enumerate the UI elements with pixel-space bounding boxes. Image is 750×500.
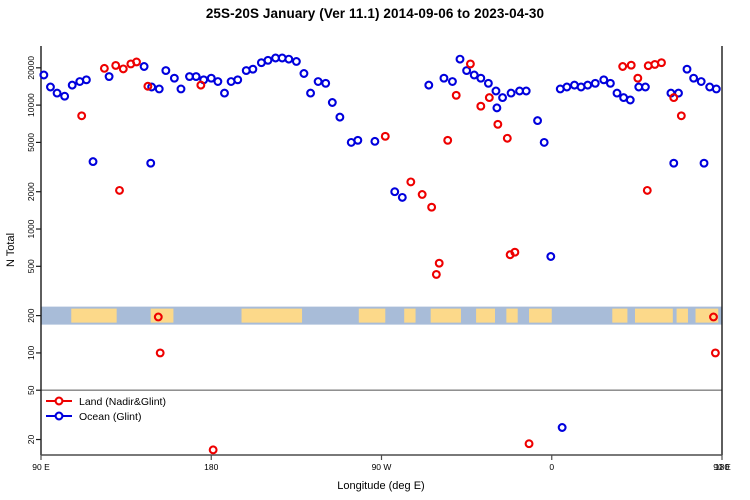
data-point [526, 440, 533, 447]
y-tick-label: 20 [26, 435, 36, 445]
y-tick-label: 5000 [26, 133, 36, 152]
data-point [371, 138, 378, 145]
data-point [101, 65, 108, 72]
data-point [285, 56, 292, 63]
data-point [141, 63, 148, 70]
data-point [69, 82, 76, 89]
x-axis-ticks: 90 E18090 W090 E180 [32, 455, 731, 472]
data-point [315, 78, 322, 85]
data-point [493, 88, 500, 95]
data-point [407, 179, 414, 186]
y-tick-label: 500 [26, 259, 36, 273]
data-point [336, 114, 343, 121]
data-point [171, 75, 178, 82]
data-point [670, 160, 677, 167]
data-point [511, 249, 518, 256]
data-point [193, 73, 200, 80]
plot-frame [41, 46, 722, 455]
data-point [120, 66, 127, 73]
data-point [627, 97, 634, 104]
data-point [494, 121, 501, 128]
y-tick-label: 200 [26, 308, 36, 322]
data-point [221, 90, 228, 97]
legend-label: Land (Nadir&Glint) [79, 396, 166, 408]
x-axis-label: Longitude (deg E) [337, 480, 424, 492]
data-point [499, 94, 506, 101]
data-point [162, 67, 169, 74]
y-axis-ticks: 20501002005001000200050001000020000 [26, 56, 41, 445]
data-point [504, 135, 511, 142]
data-point [147, 160, 154, 167]
data-point [644, 187, 651, 194]
data-point [265, 57, 272, 64]
data-point [534, 117, 541, 124]
data-point [477, 103, 484, 110]
data-point [559, 424, 566, 431]
data-point [614, 90, 621, 97]
data-point [433, 271, 440, 278]
data-point [428, 204, 435, 211]
data-point [463, 67, 470, 74]
data-point [642, 84, 649, 91]
data-point [112, 62, 119, 69]
data-point [457, 56, 464, 63]
series-land-nadir-glint [78, 59, 719, 454]
data-point [178, 86, 185, 93]
data-point [584, 82, 591, 89]
series-ocean-glint [40, 55, 719, 431]
data-point [670, 94, 677, 101]
data-point [210, 446, 217, 453]
data-point [90, 158, 97, 165]
y-tick-label: 50 [26, 385, 36, 395]
data-point [293, 58, 300, 65]
data-point [382, 133, 389, 140]
data-point [523, 88, 530, 95]
x-tick-label-end: 180 [715, 462, 729, 472]
legend: Land (Nadir&Glint)Ocean (Glint) [44, 390, 194, 426]
data-point [467, 61, 474, 68]
data-point [449, 78, 456, 85]
data-point [508, 90, 515, 97]
data-point [40, 72, 47, 79]
data-point [329, 99, 336, 106]
data-point [628, 62, 635, 69]
data-point [713, 86, 720, 93]
y-tick-label: 20000 [26, 56, 36, 80]
data-point [157, 350, 164, 357]
data-point [607, 80, 614, 87]
x-tick-label: 180 [204, 462, 218, 472]
data-point [658, 59, 665, 66]
y-tick-label: 100 [26, 346, 36, 360]
chart-root: 25S-20S January (Ver 11.1) 2014-09-06 to… [0, 0, 750, 500]
data-point [83, 76, 90, 83]
data-point [684, 66, 691, 73]
data-point [197, 82, 204, 89]
data-point [214, 78, 221, 85]
land-ocean-band [41, 307, 722, 325]
data-point [156, 86, 163, 93]
y-axis-label: N Total [5, 233, 17, 267]
data-point [354, 137, 361, 144]
data-point [78, 112, 85, 119]
y-tick-label: 1000 [26, 219, 36, 238]
data-point [477, 75, 484, 82]
data-point [116, 187, 123, 194]
data-point [436, 260, 443, 267]
data-point [634, 75, 641, 82]
legend-marker [56, 413, 63, 420]
scatter-plot: 20501002005001000200050001000020000 90 E… [0, 0, 750, 500]
y-tick-label: 2000 [26, 182, 36, 201]
data-point [301, 70, 308, 77]
data-point [678, 112, 685, 119]
x-tick-label: 90 W [372, 462, 392, 472]
data-point [592, 80, 599, 87]
y-tick-label: 10000 [26, 93, 36, 117]
data-point [106, 73, 113, 80]
data-point [307, 90, 314, 97]
data-point [399, 194, 406, 201]
data-point [425, 82, 432, 89]
data-point [563, 84, 570, 91]
data-point [322, 80, 329, 87]
data-point [698, 78, 705, 85]
data-point [712, 350, 719, 357]
data-point [61, 93, 68, 100]
data-point [453, 92, 460, 99]
data-point [444, 137, 451, 144]
data-point [493, 104, 500, 111]
legend-marker [56, 398, 63, 405]
data-point [547, 253, 554, 260]
data-point [619, 63, 626, 70]
x-tick-label: 0 [549, 462, 554, 472]
data-point [391, 188, 398, 195]
data-point [234, 76, 241, 83]
data-point [441, 75, 448, 82]
data-point [47, 84, 54, 91]
data-point [249, 66, 256, 73]
data-point [690, 75, 697, 82]
legend-label: Ocean (Glint) [79, 411, 141, 423]
data-point [485, 80, 492, 87]
data-point [486, 94, 493, 101]
data-point [419, 191, 426, 198]
data-point [701, 160, 708, 167]
data-point [541, 139, 548, 146]
data-point [54, 90, 61, 97]
x-tick-label: 90 E [32, 462, 50, 472]
data-point [133, 59, 140, 66]
